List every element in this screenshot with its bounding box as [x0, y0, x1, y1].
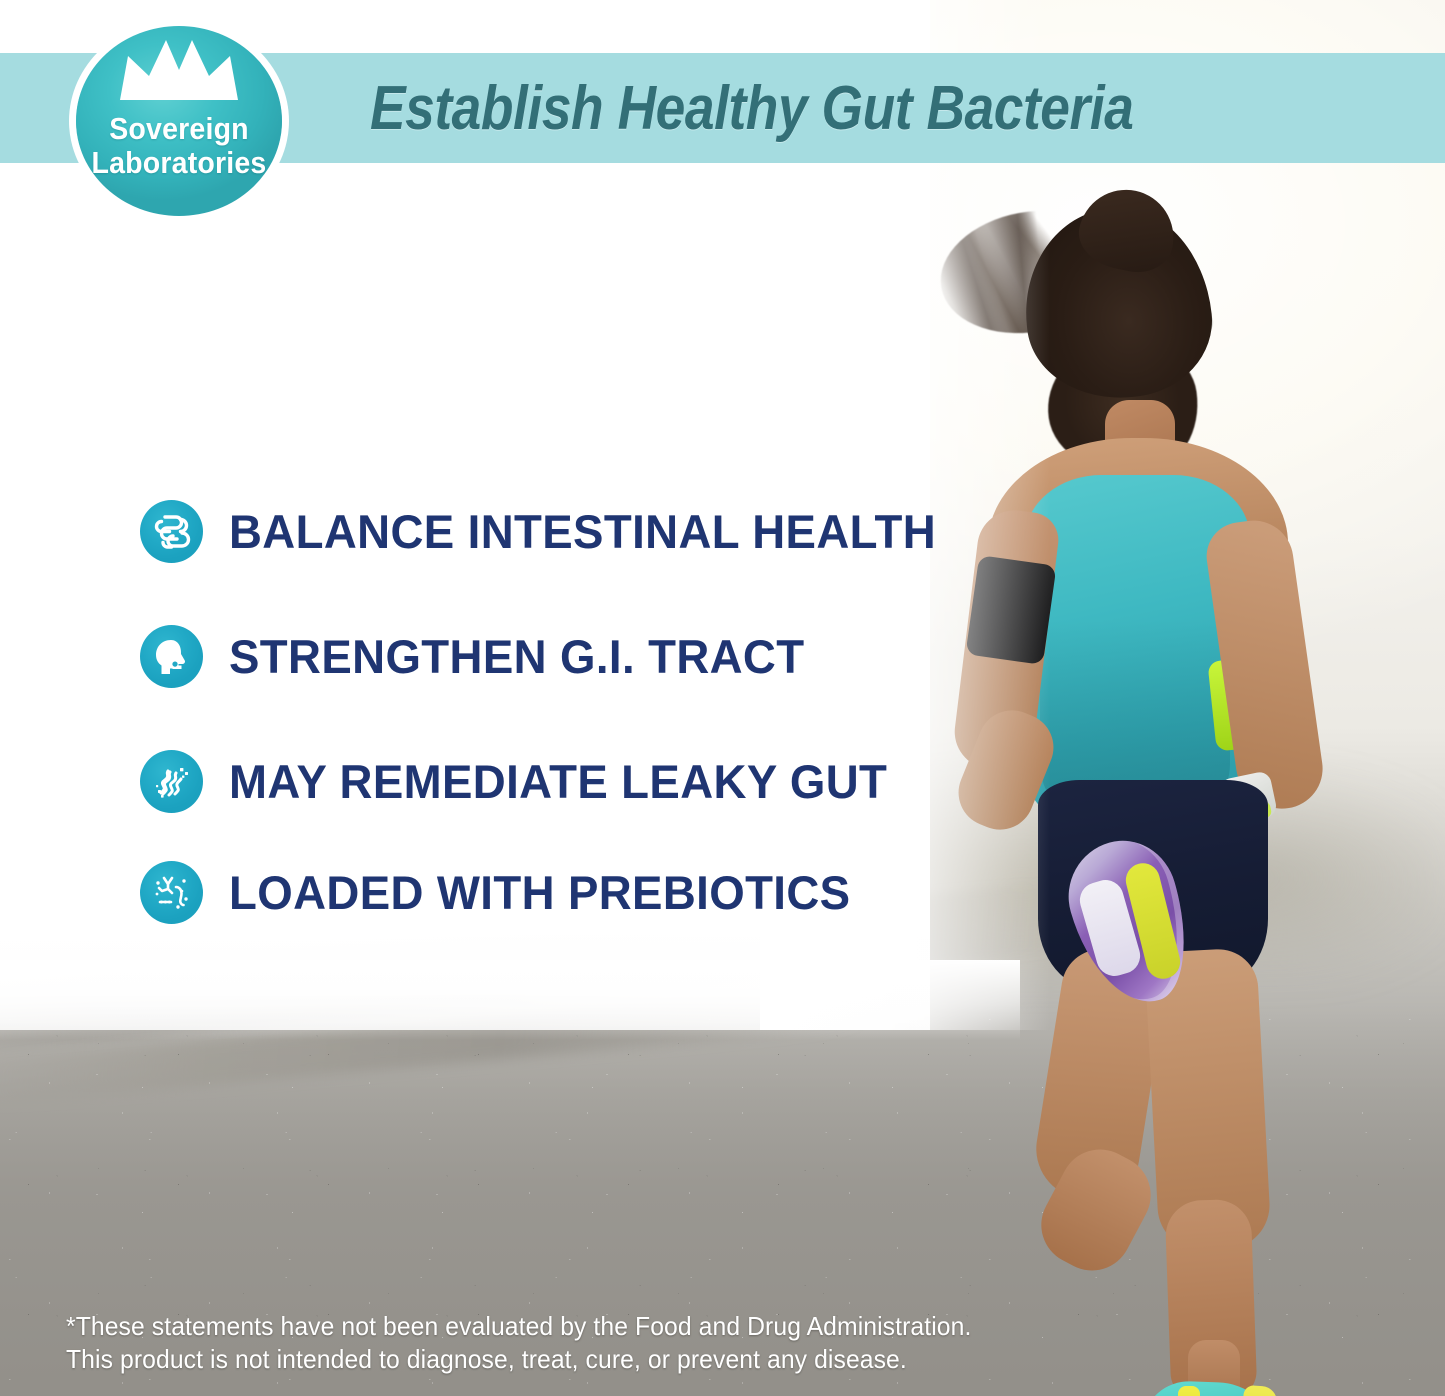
fda-disclaimer-line-1: *These statements have not been evaluate… [66, 1310, 883, 1343]
brand-logo-line-1: Sovereign [84, 112, 274, 146]
benefit-item-balance-intestinal-health: BALANCE INTESTINAL HEALTH [140, 500, 900, 563]
intestine-icon [140, 500, 203, 563]
brand-logo-line-2: Laboratories [84, 146, 274, 180]
benefit-item-loaded-with-prebiotics: LOADED WITH PREBIOTICS [140, 861, 900, 924]
benefit-label: BALANCE INTESTINAL HEALTH [229, 504, 936, 559]
microbes-icon [140, 861, 203, 924]
benefit-label: LOADED WITH PREBIOTICS [229, 865, 850, 920]
page-title: Establish Healthy Gut Bacteria [370, 58, 1239, 158]
head-throat-icon [140, 625, 203, 688]
runner-shoe-planted-stripe [1178, 1386, 1200, 1396]
benefits-list: BALANCE INTESTINAL HEALTH STRENGTHEN G.I… [140, 500, 900, 924]
benefit-label: MAY REMEDIATE LEAKY GUT [229, 754, 887, 809]
benefit-label: STRENGTHEN G.I. TRACT [229, 629, 804, 684]
benefit-item-may-remediate-leaky-gut: MAY REMEDIATE LEAKY GUT [140, 750, 900, 813]
product-infographic: Establish Healthy Gut Bacteria Sovereign… [0, 0, 1445, 1396]
fda-disclaimer-line-2: This product is not intended to diagnose… [66, 1343, 883, 1376]
panel-bottom-fade [0, 960, 1020, 1040]
bacillus-icon [140, 750, 203, 813]
brand-logo-wordmark: Sovereign Laboratories [84, 112, 274, 180]
brand-logo-badge: Sovereign Laboratories [76, 26, 282, 216]
benefit-item-strengthen-gi-tract: STRENGTHEN G.I. TRACT [140, 625, 900, 688]
fda-disclaimer: *These statements have not been evaluate… [66, 1310, 883, 1376]
crown-icon [118, 40, 240, 102]
